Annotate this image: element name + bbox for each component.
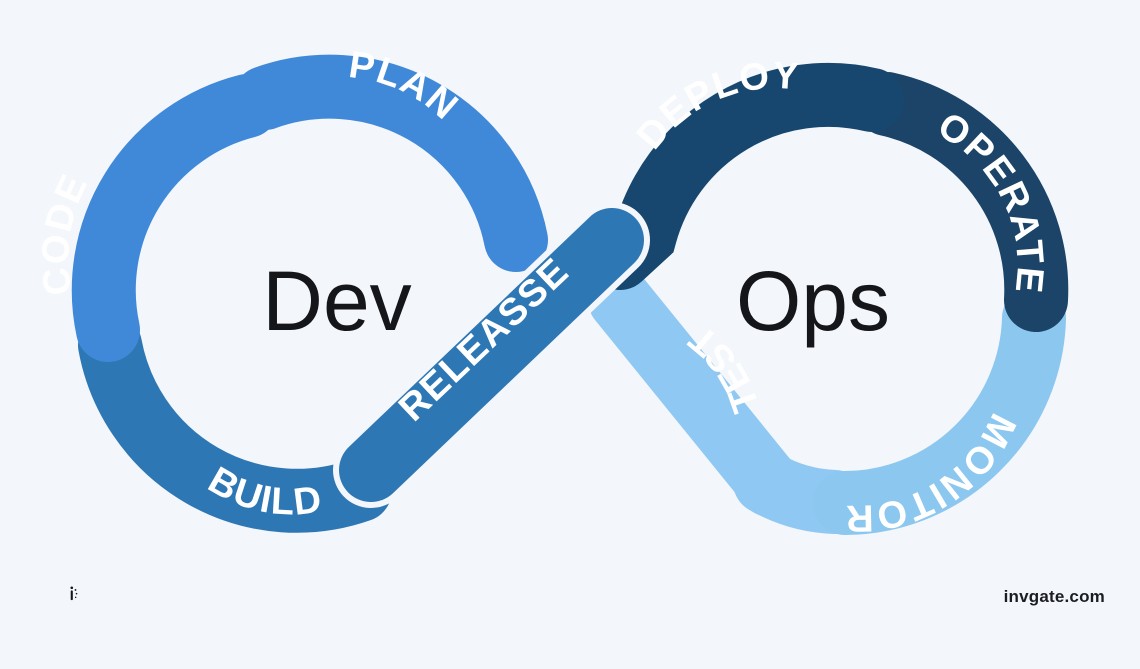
lobe-label-ops: Ops [736, 254, 890, 348]
loop-ribbons [104, 87, 1037, 503]
lobe-label-dev: Dev [262, 254, 411, 348]
segment-band-code[interactable] [104, 106, 247, 330]
devops-loop-svg: CODE PLAN RELEASSE DEPLOY OPERATE MONITO… [0, 0, 1140, 669]
invgate-logo-icon [56, 581, 82, 607]
segment-band-plan[interactable] [265, 87, 516, 240]
brand-site-label: invgate.com [1004, 587, 1105, 607]
diagram-canvas: CODE PLAN RELEASSE DEPLOY OPERATE MONITO… [0, 0, 1140, 669]
